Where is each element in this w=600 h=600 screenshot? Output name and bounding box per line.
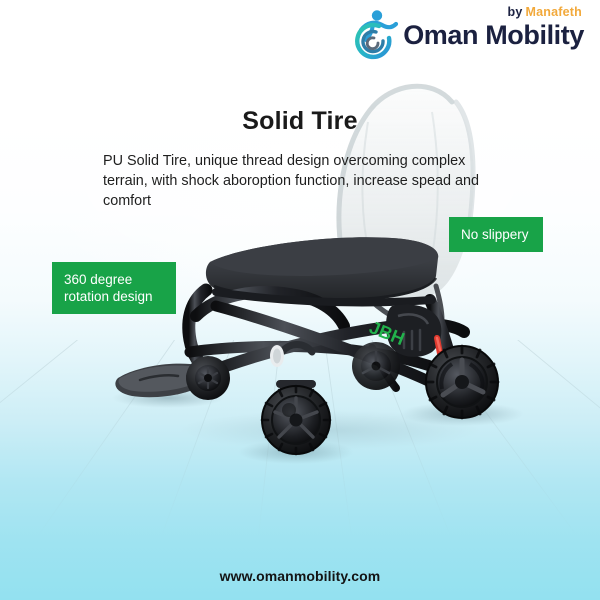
footer-website-url[interactable]: www.omanmobility.com [220,568,381,584]
oman-mobility-spiral-person-logo-icon [349,8,401,66]
logo-person-head [372,10,382,20]
brand-name: Oman Mobility [403,21,584,49]
description-text: PU Solid Tire, unique thread design over… [103,151,495,211]
header-bar: byManafeth Oman Mobility [0,0,600,78]
badge-360-rotation: 360 degree rotation design [52,262,176,314]
badge-no-slippery: No slippery [449,217,543,252]
brand-byline: byManafeth [508,6,582,19]
brand-logo[interactable]: byManafeth Oman Mobility [349,6,584,66]
brand-text-block: byManafeth Oman Mobility [403,6,584,49]
parent-brand-name: Manafeth [526,5,582,19]
byline-prefix: by [508,5,523,19]
footer-bar: www.omanmobility.com [0,552,600,600]
poster-canvas: JBH [0,0,600,600]
page-title: Solid Tire [0,107,600,136]
logo-spiral-inner [367,38,378,49]
